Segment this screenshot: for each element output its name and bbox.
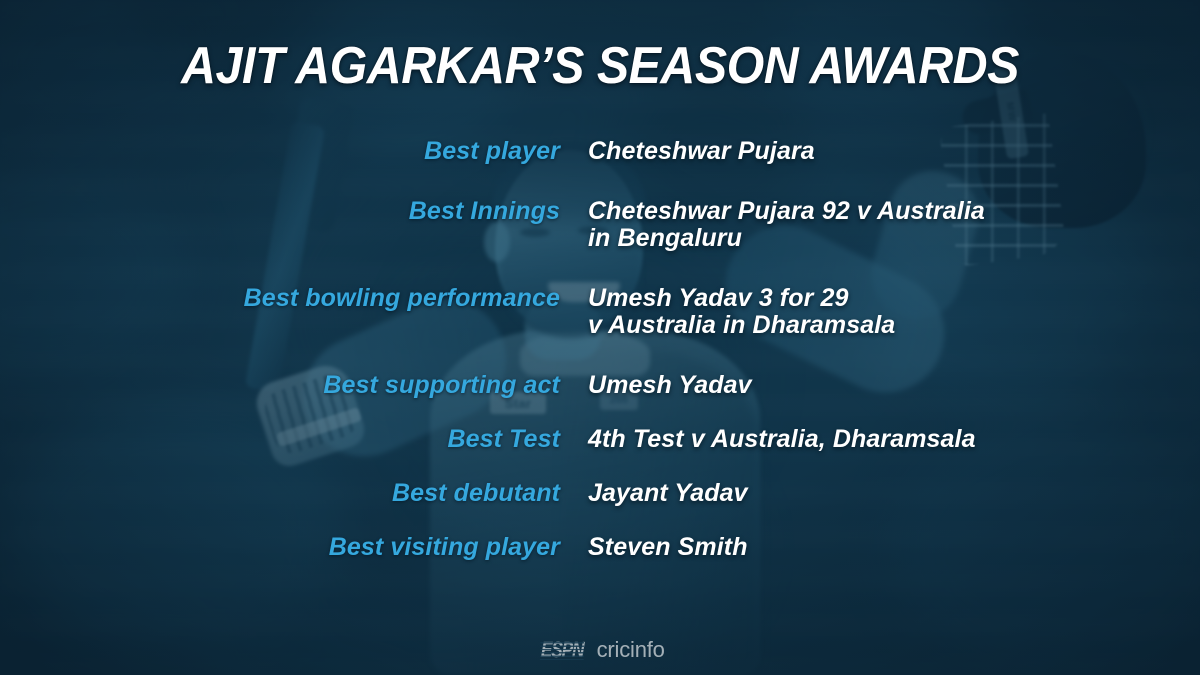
award-value-best-innings: Cheteshwar Pujara 92 v Australia in Beng… bbox=[588, 198, 1200, 252]
award-label-best-player: Best player bbox=[0, 138, 588, 165]
award-row: Best supporting act Umesh Yadav bbox=[0, 372, 1200, 399]
award-row: Best bowling performance Umesh Yadav 3 f… bbox=[0, 285, 1200, 339]
award-row: Best Innings Cheteshwar Pujara 92 v Aust… bbox=[0, 198, 1200, 252]
award-row: Best debutant Jayant Yadav bbox=[0, 480, 1200, 507]
award-value-best-debutant: Jayant Yadav bbox=[588, 480, 1200, 507]
award-value-best-visiting-player: Steven Smith bbox=[588, 534, 1200, 561]
award-label-best-bowling-performance: Best bowling performance bbox=[0, 285, 588, 312]
award-value-best-supporting-act: Umesh Yadav bbox=[588, 372, 1200, 399]
award-label-best-test: Best Test bbox=[0, 426, 588, 453]
award-row: Best player Cheteshwar Pujara bbox=[0, 138, 1200, 165]
award-value-best-player: Cheteshwar Pujara bbox=[588, 138, 1200, 165]
award-value-best-test: 4th Test v Australia, Dharamsala bbox=[588, 426, 1200, 453]
espn-logo-mark: ESPN bbox=[541, 639, 584, 661]
award-row: Best visiting player Steven Smith bbox=[0, 534, 1200, 561]
espncricinfo-logo: ESPN cricinfo bbox=[0, 639, 1200, 661]
award-label-best-visiting-player: Best visiting player bbox=[0, 534, 588, 561]
cricinfo-wordmark: cricinfo bbox=[597, 639, 665, 661]
content-layer: AJIT AGARKAR’S SEASON AWARDS Best player… bbox=[0, 0, 1200, 675]
award-label-best-supporting-act: Best supporting act bbox=[0, 372, 588, 399]
page-title: AJIT AGARKAR’S SEASON AWARDS bbox=[42, 36, 1158, 96]
award-label-best-innings: Best Innings bbox=[0, 198, 588, 225]
award-row: Best Test 4th Test v Australia, Dharamsa… bbox=[0, 426, 1200, 453]
award-label-best-debutant: Best debutant bbox=[0, 480, 588, 507]
awards-list: Best player Cheteshwar Pujara Best Innin… bbox=[0, 132, 1200, 561]
award-value-best-bowling-performance: Umesh Yadav 3 for 29 v Australia in Dhar… bbox=[588, 285, 1200, 339]
graphic-canvas: AJIT AGARKAR’S SEASON AWARDS Best player… bbox=[0, 0, 1200, 675]
